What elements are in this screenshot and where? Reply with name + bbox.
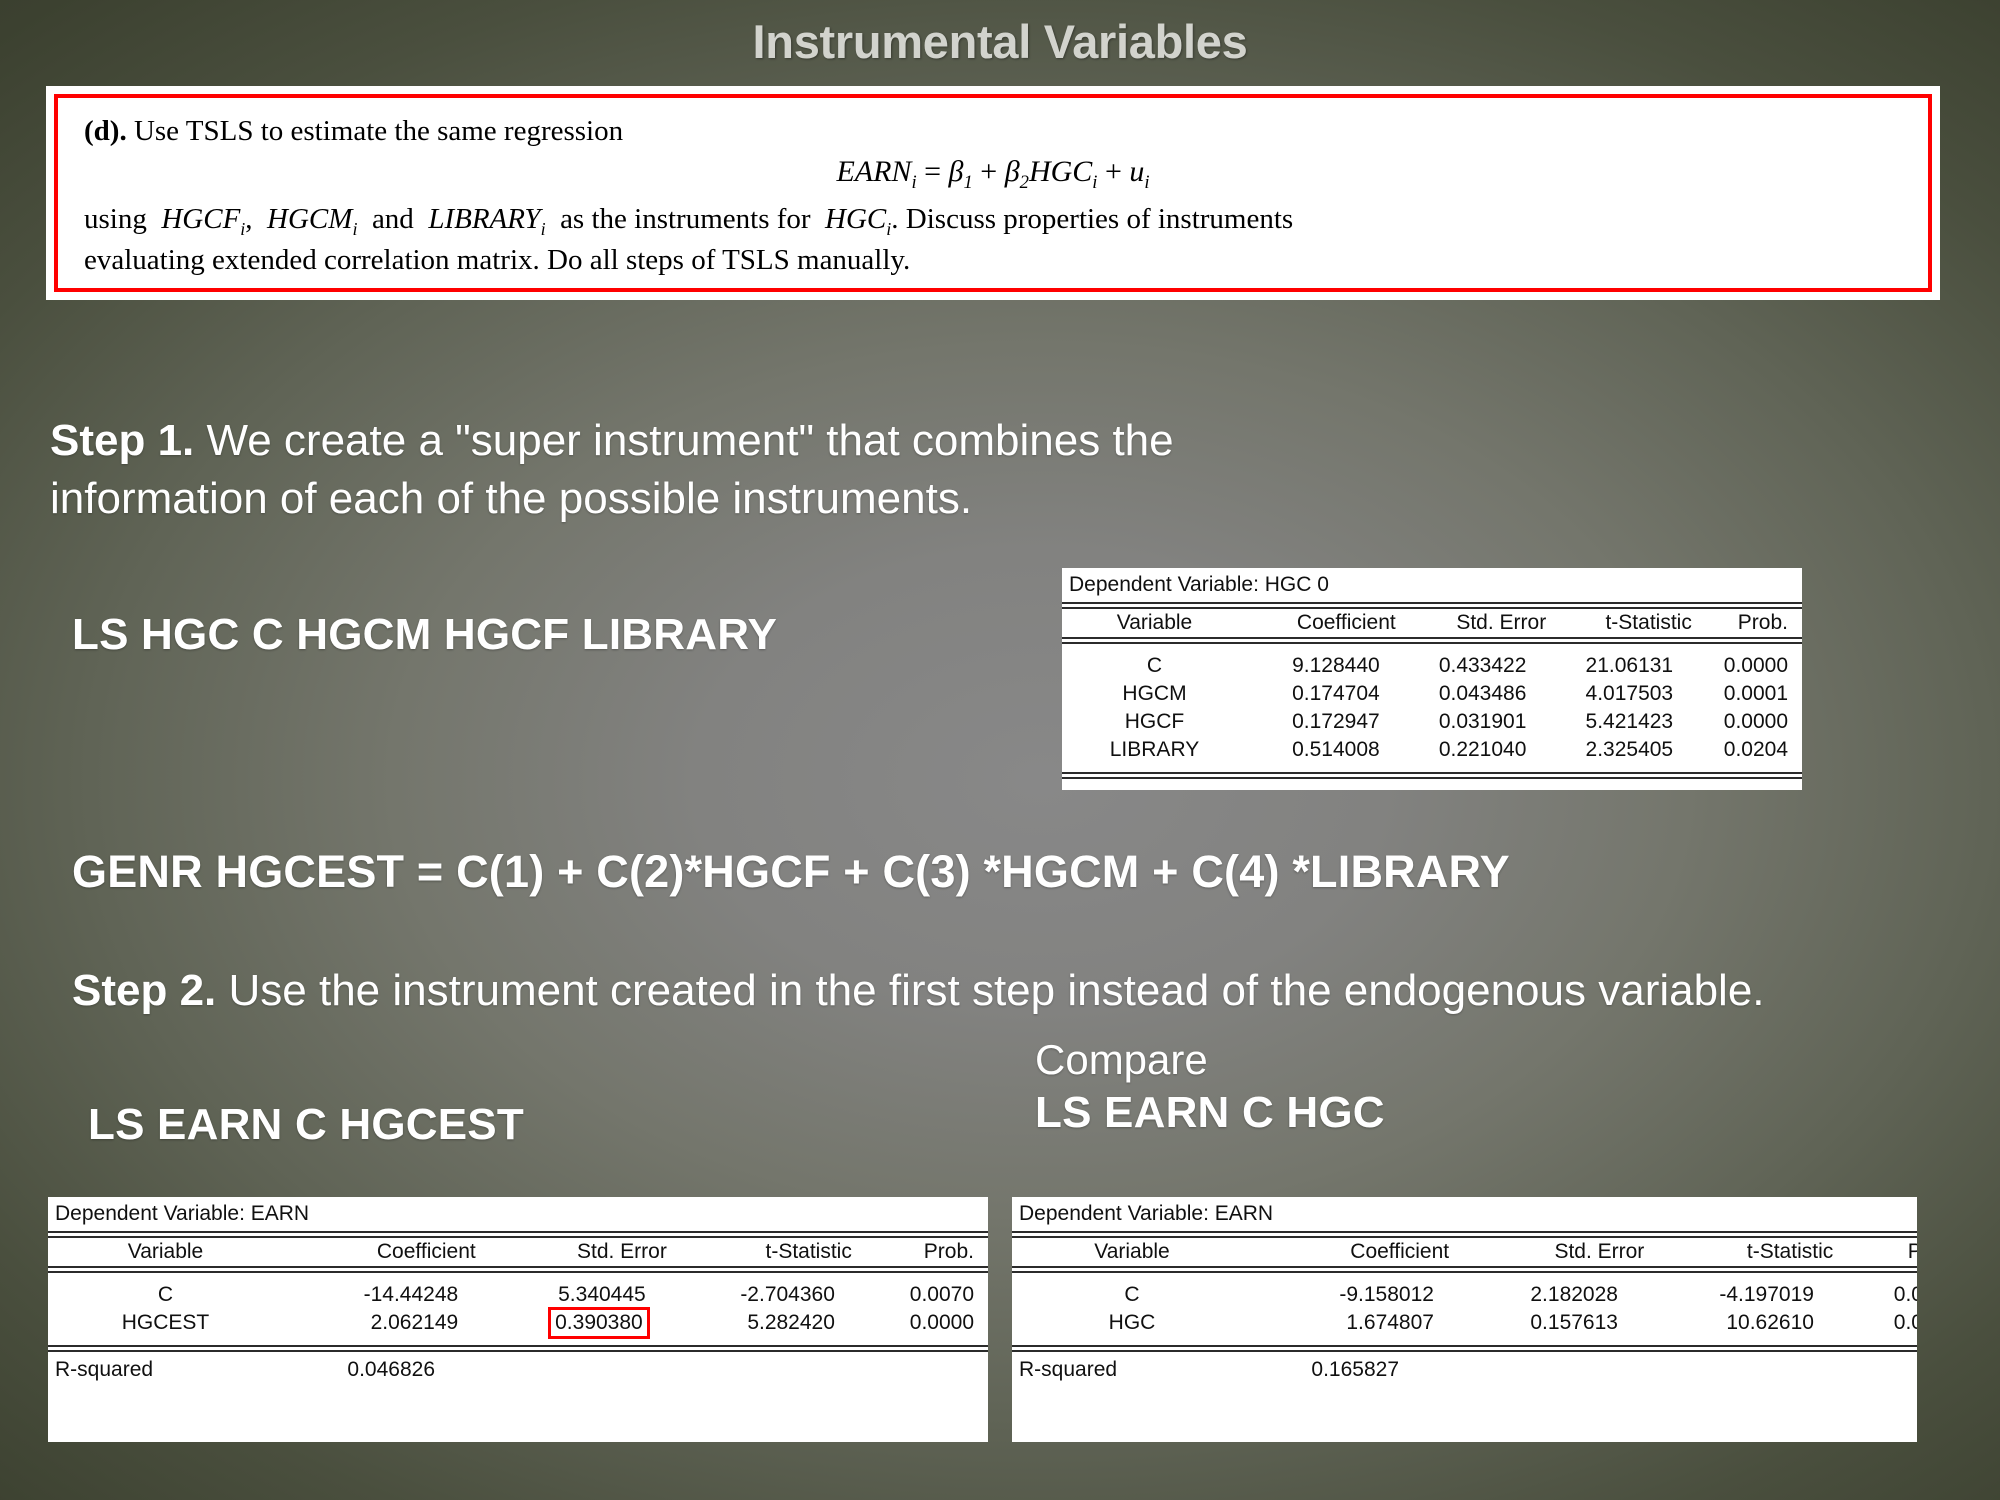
command-genr-hgcest: GENR HGCEST = C(1) + C(2)*HGCF + C(3) *H… bbox=[72, 846, 1510, 898]
table-spacer bbox=[48, 1273, 988, 1281]
question-last-line: evaluating extended correlation matrix. … bbox=[84, 241, 1902, 279]
cell-prob: 0.0070 bbox=[849, 1281, 988, 1309]
header-coefficient: Coefficient bbox=[1252, 1238, 1463, 1266]
eviews-output-hgc: Dependent Variable: HGC 0 Variable Coeff… bbox=[1062, 568, 1802, 790]
table-header-row: Variable Coefficient Std. Error t-Statis… bbox=[48, 1238, 988, 1266]
cell-t-statistic: 5.282420 bbox=[660, 1309, 849, 1337]
equation-u: u bbox=[1129, 155, 1144, 188]
cell-std-error: 0.433422 bbox=[1394, 652, 1541, 680]
header-std-error: Std. Error bbox=[1410, 609, 1560, 637]
instrument-hgcm: HGCM bbox=[267, 203, 352, 235]
eviews-output-hgcest: Dependent Variable: EARN Variable Coeffi… bbox=[48, 1197, 988, 1442]
rsquared-value: 0.046826 bbox=[265, 1358, 435, 1382]
equation-beta1-sub: 1 bbox=[963, 172, 972, 193]
equation-equals: = bbox=[924, 155, 941, 188]
question-comma: , bbox=[245, 203, 252, 235]
step-2-paragraph: Step 2. Use the instrument created in th… bbox=[72, 962, 1892, 1020]
cell-t-statistic: 21.06131 bbox=[1540, 652, 1687, 680]
question-line-1: (d). Use TSLS to estimate the same regre… bbox=[84, 112, 1902, 150]
cell-prob: 0.0000 bbox=[1828, 1281, 1917, 1309]
cell-variable: HGCF bbox=[1062, 708, 1247, 736]
header-prob: Prob. bbox=[1847, 1238, 1917, 1266]
step-1-label: Step 1. bbox=[50, 416, 194, 465]
cell-t-statistic: 2.325405 bbox=[1540, 736, 1687, 764]
cell-coefficient: 1.674807 bbox=[1252, 1309, 1448, 1337]
step-2-label: Step 2. bbox=[72, 966, 216, 1015]
cell-t-statistic: 10.62610 bbox=[1632, 1309, 1828, 1337]
equation-plus-1: + bbox=[980, 155, 997, 188]
header-t-statistic: t-Statistic bbox=[1658, 1238, 1847, 1266]
table-rule-mid bbox=[48, 1266, 988, 1273]
cell-std-error-highlighted: 0.390380 bbox=[472, 1309, 660, 1337]
cell-coefficient: 0.174704 bbox=[1247, 680, 1394, 708]
equation-hgc: HGC bbox=[1029, 155, 1092, 188]
question-line-1-text: Use TSLS to estimate the same regression bbox=[127, 115, 623, 147]
cell-coefficient: -14.44248 bbox=[283, 1281, 472, 1309]
rsquared-label: R-squared bbox=[55, 1358, 265, 1382]
header-coefficient: Coefficient bbox=[283, 1238, 490, 1266]
regression-table-hgc: Variable Coefficient Std. Error t-Statis… bbox=[1062, 609, 1802, 637]
table-row: C -9.158012 2.182028 -4.197019 0.0000 bbox=[1012, 1281, 1917, 1309]
header-std-error: Std. Error bbox=[1463, 1238, 1658, 1266]
header-std-error: Std. Error bbox=[490, 1238, 681, 1266]
cell-coefficient: 0.514008 bbox=[1247, 736, 1394, 764]
instrument-hgcm-sub: i bbox=[352, 219, 357, 239]
regression-table-hgcest-head: Variable Coefficient Std. Error t-Statis… bbox=[48, 1238, 988, 1266]
question-using-word: using bbox=[84, 203, 147, 235]
question-and-word: and bbox=[372, 203, 414, 235]
cell-variable: C bbox=[1012, 1281, 1252, 1309]
question-tail-text: . Discuss properties of instruments bbox=[891, 203, 1293, 235]
cell-coefficient: 9.128440 bbox=[1247, 652, 1394, 680]
cell-variable: C bbox=[48, 1281, 283, 1309]
equation-lhs-sub: i bbox=[911, 172, 916, 193]
cell-prob: 0.0000 bbox=[1687, 652, 1802, 680]
table-spacer bbox=[1062, 764, 1802, 772]
cell-std-error: 0.043486 bbox=[1394, 680, 1541, 708]
table-rule-bottom bbox=[1062, 772, 1802, 779]
cell-std-error: 0.031901 bbox=[1394, 708, 1541, 736]
dependent-variable-hgc: Dependent Variable: HGC 0 bbox=[1062, 568, 1802, 602]
command-ls-earn-hgc: LS EARN C HGC bbox=[1035, 1088, 1385, 1138]
table-row: HGCM 0.174704 0.043486 4.017503 0.0001 bbox=[1062, 680, 1802, 708]
table-rule-bottom bbox=[1012, 1345, 1917, 1352]
header-coefficient: Coefficient bbox=[1247, 609, 1410, 637]
instrument-hgcf: HGCF bbox=[161, 203, 240, 235]
table-header-row: Variable Coefficient Std. Error t-Statis… bbox=[1062, 609, 1802, 637]
rsquared-row-earn-hgc: R-squared 0.165827 bbox=[1012, 1352, 1917, 1388]
cell-prob: 0.0001 bbox=[1687, 680, 1802, 708]
question-mid-text: as the instruments for bbox=[560, 203, 810, 235]
eviews-output-earn-hgc-inner: Dependent Variable: EARN Variable Coeffi… bbox=[1012, 1197, 1917, 1388]
cell-coefficient: 0.172947 bbox=[1247, 708, 1394, 736]
table-row: LIBRARY 0.514008 0.221040 2.325405 0.020… bbox=[1062, 736, 1802, 764]
cell-std-error: 0.221040 bbox=[1394, 736, 1541, 764]
question-callout-box: (d). Use TSLS to estimate the same regre… bbox=[46, 86, 1940, 300]
cell-variable: HGC bbox=[1012, 1309, 1252, 1337]
cell-t-statistic: 4.017503 bbox=[1540, 680, 1687, 708]
instrument-library: LIBRARY bbox=[428, 203, 540, 235]
cell-std-error: 2.182028 bbox=[1448, 1281, 1632, 1309]
step-2-text: Use the instrument created in the first … bbox=[216, 966, 1764, 1015]
regression-table-earn-hgc-head: Variable Coefficient Std. Error t-Statis… bbox=[1012, 1238, 1917, 1266]
endogenous-hgc: HGC bbox=[825, 203, 886, 235]
eviews-output-earn-hgc: Dependent Variable: EARN Variable Coeffi… bbox=[1012, 1197, 1917, 1442]
equation-beta2-sub: 2 bbox=[1020, 172, 1029, 193]
equation-hgc-sub: i bbox=[1092, 172, 1097, 193]
step-1-text: We create a "super instrument" that comb… bbox=[50, 416, 1174, 523]
cell-std-error: 5.340445 bbox=[472, 1281, 660, 1309]
header-prob: Prob. bbox=[1706, 609, 1802, 637]
dependent-variable-earn-hgcest: Dependent Variable: EARN bbox=[48, 1197, 988, 1231]
rsquared-row-hgcest: R-squared 0.046826 bbox=[48, 1352, 988, 1388]
rsquared-label: R-squared bbox=[1019, 1358, 1229, 1382]
table-rule-bottom bbox=[48, 1345, 988, 1352]
cell-variable: HGCM bbox=[1062, 680, 1247, 708]
cell-variable: LIBRARY bbox=[1062, 736, 1247, 764]
cell-coefficient: -9.158012 bbox=[1252, 1281, 1448, 1309]
cell-variable: HGCEST bbox=[48, 1309, 283, 1337]
header-variable: Variable bbox=[1062, 609, 1247, 637]
cell-t-statistic: -4.197019 bbox=[1632, 1281, 1828, 1309]
compare-label: Compare bbox=[1035, 1032, 1208, 1087]
equation-u-sub: i bbox=[1144, 172, 1149, 193]
cell-variable: C bbox=[1062, 652, 1247, 680]
regression-body-hgc: C 9.128440 0.433422 21.06131 0.0000 HGCM… bbox=[1062, 652, 1802, 764]
cell-t-statistic: 5.421423 bbox=[1540, 708, 1687, 736]
equation-lhs: EARN bbox=[836, 155, 911, 188]
slide-canvas: Instrumental Variables (d). Use TSLS to … bbox=[0, 0, 2000, 1500]
table-rule-top bbox=[1012, 1231, 1917, 1238]
rsquared-value: 0.165827 bbox=[1229, 1358, 1399, 1382]
header-prob: Prob. bbox=[866, 1238, 988, 1266]
table-row: HGC 1.674807 0.157613 10.62610 0.0000 bbox=[1012, 1309, 1917, 1337]
page-title: Instrumental Variables bbox=[0, 14, 2000, 69]
regression-body-earn-hgc: C -9.158012 2.182028 -4.197019 0.0000 HG… bbox=[1012, 1281, 1917, 1337]
dependent-variable-earn-hgc: Dependent Variable: EARN bbox=[1012, 1197, 1917, 1231]
table-rule-mid bbox=[1012, 1266, 1917, 1273]
cell-std-error: 0.157613 bbox=[1448, 1309, 1632, 1337]
cell-t-statistic: -2.704360 bbox=[660, 1281, 849, 1309]
question-equation: EARNi = β1 + β2HGCi + ui bbox=[84, 152, 1902, 196]
table-row: C -14.44248 5.340445 -2.704360 0.0070 bbox=[48, 1281, 988, 1309]
table-header-row: Variable Coefficient Std. Error t-Statis… bbox=[1012, 1238, 1917, 1266]
table-row: HGCF 0.172947 0.031901 5.421423 0.0000 bbox=[1062, 708, 1802, 736]
cell-prob: 0.0000 bbox=[849, 1309, 988, 1337]
header-t-statistic: t-Statistic bbox=[681, 1238, 866, 1266]
table-spacer bbox=[1012, 1337, 1917, 1345]
cell-prob: 0.0204 bbox=[1687, 736, 1802, 764]
instrument-library-sub: i bbox=[541, 219, 546, 239]
question-item-label: (d). bbox=[84, 115, 127, 147]
table-row: HGCEST 2.062149 0.390380 5.282420 0.0000 bbox=[48, 1309, 988, 1337]
cell-coefficient: 2.062149 bbox=[283, 1309, 472, 1337]
regression-body-hgcest: C -14.44248 5.340445 -2.704360 0.0070 HG… bbox=[48, 1281, 988, 1337]
table-spacer bbox=[1012, 1273, 1917, 1281]
command-ls-hgc: LS HGC C HGCM HGCF LIBRARY bbox=[72, 610, 777, 660]
header-variable: Variable bbox=[48, 1238, 283, 1266]
table-spacer bbox=[1062, 644, 1802, 652]
header-t-statistic: t-Statistic bbox=[1560, 609, 1706, 637]
table-rule-top bbox=[48, 1231, 988, 1238]
highlighted-std-error: 0.390380 bbox=[552, 1311, 646, 1335]
cell-prob: 0.0000 bbox=[1687, 708, 1802, 736]
equation-plus-2: + bbox=[1105, 155, 1122, 188]
question-paragraph: using HGCFi, HGCMi and LIBRARYi as the i… bbox=[84, 200, 1902, 242]
equation-beta2: β bbox=[1005, 155, 1020, 188]
cell-prob: 0.0000 bbox=[1828, 1309, 1917, 1337]
table-rule-mid bbox=[1062, 637, 1802, 644]
table-rule-top bbox=[1062, 602, 1802, 609]
table-row: C 9.128440 0.433422 21.06131 0.0000 bbox=[1062, 652, 1802, 680]
equation-beta1: β bbox=[949, 155, 964, 188]
question-callout-inner: (d). Use TSLS to estimate the same regre… bbox=[54, 94, 1932, 292]
command-ls-earn-hgcest: LS EARN C HGCEST bbox=[88, 1100, 524, 1150]
header-variable: Variable bbox=[1012, 1238, 1252, 1266]
table-spacer bbox=[48, 1337, 988, 1345]
step-1-paragraph: Step 1. We create a "super instrument" t… bbox=[50, 412, 1350, 528]
